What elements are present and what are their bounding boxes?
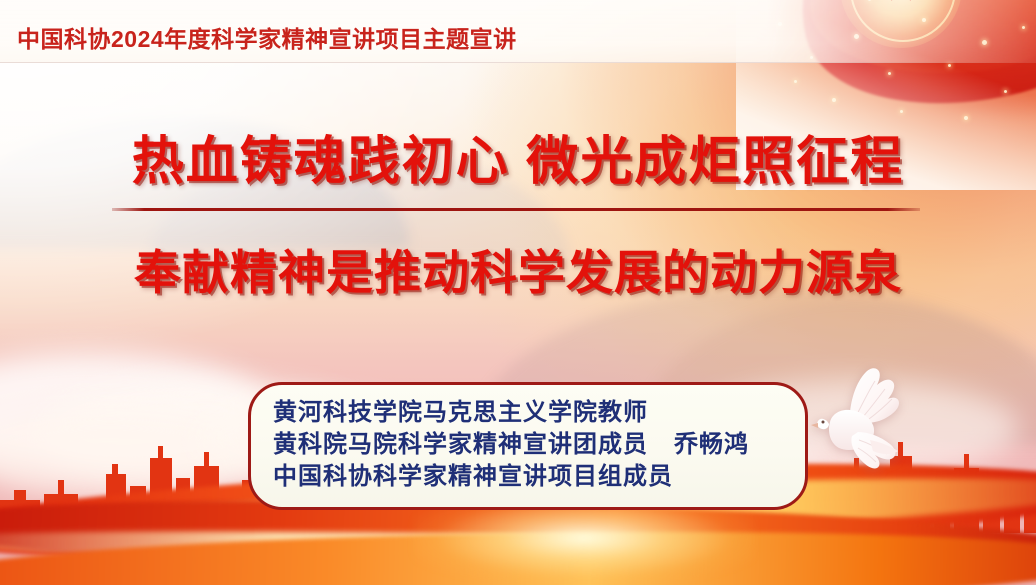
speaker-affiliation-3: 中国科协科学家精神宣讲项目组成员 — [273, 461, 673, 493]
title-divider — [112, 208, 920, 211]
speaker-line-2: 黄科院马院科学家精神宣讲团成员 乔畅鸿 — [273, 429, 785, 461]
main-title: 热血铸魂践初心 微光成炬照征程 — [0, 119, 1036, 194]
speaker-name: 乔畅鸿 — [674, 429, 749, 461]
speaker-info-box: 黄河科技学院马克思主义学院教师 黄科院马院科学家精神宣讲团成员 乔畅鸿 中国科协… — [248, 382, 808, 510]
speaker-line-1: 黄河科技学院马克思主义学院教师 — [273, 397, 785, 429]
white-dove-icon — [796, 360, 914, 480]
header-title: 中国科协2024年度科学家精神宣讲项目主题宣讲 — [17, 20, 517, 54]
sub-title: 奉献精神是推动科学发展的动力源泉 — [0, 234, 1036, 303]
speaker-affiliation-2: 黄科院马院科学家精神宣讲团成员 — [273, 429, 648, 461]
poster-slide: 中国科协2024年度科学家精神宣讲项目主题宣讲 热血铸魂践初心 微光成炬照征程 … — [0, 0, 1036, 585]
speaker-affiliation-1: 黄河科技学院马克思主义学院教师 — [273, 397, 648, 429]
speaker-line-3: 中国科协科学家精神宣讲项目组成员 — [273, 461, 785, 493]
